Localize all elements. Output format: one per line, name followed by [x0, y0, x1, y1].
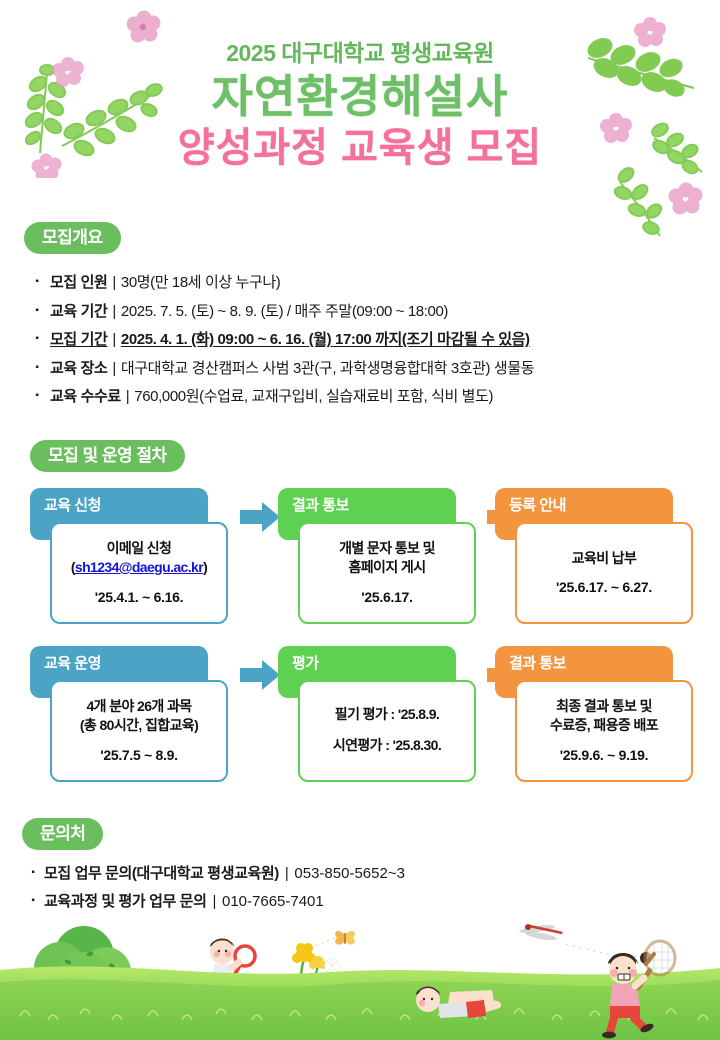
overview-label: 모집 기간	[50, 329, 107, 352]
separator: |	[121, 386, 135, 409]
step-line-2: 홈페이지 게시	[349, 558, 426, 577]
process-step-result-notice: 결과 통보 개별 문자 통보 및 홈페이지 게시 '25.6.17.	[278, 488, 476, 628]
bullet-icon: ▪	[24, 360, 50, 375]
overview-value: 대구대학교 경산캠퍼스 사범 3관(구, 과학생명융합대학 3호관) 생물동	[121, 358, 534, 381]
step-line-2: 수료증, 패용증 배포	[550, 716, 658, 735]
process-flow: 교육 신청 이메일 신청 (sh1234@daegu.ac.kr) '25.4.…	[0, 488, 720, 796]
overview-label: 교육 수수료	[50, 386, 121, 409]
contact-phone: 010-7665-7401	[222, 893, 324, 910]
step-date: '25.7.5 ~ 8.9.	[100, 747, 177, 763]
bullet-icon: ▪	[24, 388, 50, 403]
step-date: '25.6.17. ~ 6.27.	[556, 579, 652, 595]
arrow-right-icon	[240, 660, 280, 690]
arrow-right-icon	[240, 502, 280, 532]
overview-label: 교육 기간	[50, 301, 107, 324]
contact-label: 교육과정 및 평가 업무 문의	[44, 890, 206, 911]
contact-label: 모집 업무 문의(대구대학교 평생교육원)	[44, 862, 279, 883]
overview-value: 760,000원(수업료, 교재구입비, 실습재료비 포함, 식비 별도)	[134, 386, 493, 409]
process-step-final-result: 결과 통보 최종 결과 통보 및 수료증, 패용증 배포 '25.9.6. ~ …	[495, 646, 693, 786]
step-date: '25.6.17.	[361, 589, 412, 605]
step-line-1: 이메일 신청	[107, 539, 172, 558]
list-item: ▪ 모집 업무 문의(대구대학교 평생교육원) | 053-850-5652~3	[22, 862, 702, 883]
step-body: 이메일 신청 (sh1234@daegu.ac.kr) '25.4.1. ~ 6…	[50, 522, 228, 624]
step-date: '25.9.6. ~ 9.19.	[560, 747, 648, 763]
process-step-registration: 등록 안내 교육비 납부 '25.6.17. ~ 6.27.	[495, 488, 693, 628]
list-item: ▪ 모집 기간 | 2025. 4. 1. (화) 09:00 ~ 6. 16.…	[24, 329, 704, 352]
step-line-2: (총 80시간, 집합교육)	[80, 716, 198, 735]
step-line-1: 교육비 납부	[572, 549, 637, 568]
separator: |	[206, 893, 222, 910]
list-item: ▪ 교육 기간 | 2025. 7. 5. (토) ~ 8. 9. (토) / …	[24, 301, 704, 324]
dragonfly-icon	[519, 924, 563, 942]
email-link[interactable]: sh1234@daegu.ac.kr	[75, 559, 203, 575]
overview-label: 교육 장소	[50, 358, 107, 381]
page-title: 자연환경해설사	[0, 70, 720, 123]
overview-value: 30명(만 18세 이상 누구나)	[121, 272, 280, 295]
section-badge-contact: 문의처	[22, 818, 103, 850]
step-line-2: (sh1234@daegu.ac.kr)	[71, 558, 207, 577]
process-step-apply: 교육 신청 이메일 신청 (sh1234@daegu.ac.kr) '25.4.…	[30, 488, 228, 628]
step-line-1: 필기 평가 : '25.8.9.	[335, 705, 439, 724]
butterfly-icon	[335, 931, 355, 945]
section-badge-overview: 모집개요	[24, 222, 121, 254]
step-line-2: 시연평가 : '25.8.30.	[333, 736, 441, 755]
list-item: ▪ 교육 장소 | 대구대학교 경산캠퍼스 사범 3관(구, 과학생명융합대학 …	[24, 358, 704, 381]
step-body: 교육비 납부 '25.6.17. ~ 6.27.	[515, 522, 693, 624]
overview-value: 2025. 7. 5. (토) ~ 8. 9. (토) / 매주 주말(09:0…	[121, 301, 448, 324]
bullet-icon: ▪	[24, 303, 50, 318]
list-item: ▪ 교육 수수료 | 760,000원(수업료, 교재구입비, 실습재료비 포함…	[24, 386, 704, 409]
process-row-2: 교육 운영 4개 분야 26개 과목 (총 80시간, 집합교육) '25.7.…	[0, 646, 720, 796]
step-body: 개별 문자 통보 및 홈페이지 게시 '25.6.17.	[298, 522, 476, 624]
bullet-icon: ▪	[22, 867, 44, 878]
separator: |	[107, 272, 121, 295]
bullet-icon: ▪	[22, 895, 44, 906]
separator: |	[107, 329, 121, 352]
process-step-operation: 교육 운영 4개 분야 26개 과목 (총 80시간, 집합교육) '25.7.…	[30, 646, 228, 786]
step-body: 최종 결과 통보 및 수료증, 패용증 배포 '25.9.6. ~ 9.19.	[515, 680, 693, 782]
step-body: 필기 평가 : '25.8.9. 시연평가 : '25.8.30.	[298, 680, 476, 782]
contact-badge-label: 문의처	[22, 818, 103, 850]
separator: |	[279, 865, 295, 882]
separator: |	[107, 301, 121, 324]
process-row-1: 교육 신청 이메일 신청 (sh1234@daegu.ac.kr) '25.4.…	[0, 488, 720, 638]
bullet-icon: ▪	[24, 331, 50, 346]
poster-header: 2025 대구대학교 평생교육원 자연환경해설사 양성과정 교육생 모집	[0, 0, 720, 172]
section-badge-process: 모집 및 운영 절차	[30, 440, 185, 472]
step-date: '25.4.1. ~ 6.16.	[95, 589, 183, 605]
bottom-illustration	[0, 910, 720, 1040]
list-item: ▪ 교육과정 및 평가 업무 문의 | 010-7665-7401	[22, 890, 702, 911]
list-item: ▪ 모집 인원 | 30명(만 18세 이상 누구나)	[24, 272, 704, 295]
overview-badge-label: 모집개요	[24, 222, 121, 254]
step-line-1: 최종 결과 통보 및	[556, 697, 652, 716]
page-subtitle: 양성과정 교육생 모집	[0, 124, 720, 172]
step-body: 4개 분야 26개 과목 (총 80시간, 집합교육) '25.7.5 ~ 8.…	[50, 680, 228, 782]
overview-label: 모집 인원	[50, 272, 107, 295]
process-step-evaluation: 평가 필기 평가 : '25.8.9. 시연평가 : '25.8.30.	[278, 646, 476, 786]
paren-close: )	[203, 559, 207, 575]
separator: |	[107, 358, 121, 381]
contact-phone: 053-850-5652~3	[294, 865, 405, 882]
overview-value: 2025. 4. 1. (화) 09:00 ~ 6. 16. (월) 17:00…	[121, 329, 530, 352]
step-line-1: 개별 문자 통보 및	[339, 539, 435, 558]
overview-list: ▪ 모집 인원 | 30명(만 18세 이상 누구나) ▪ 교육 기간 | 20…	[24, 272, 704, 415]
bullet-icon: ▪	[24, 274, 50, 289]
step-line-1: 4개 분야 26개 과목	[86, 697, 191, 716]
process-badge-label: 모집 및 운영 절차	[30, 440, 185, 472]
poster-root: 2025 대구대학교 평생교육원 자연환경해설사 양성과정 교육생 모집 모집개…	[0, 0, 720, 1040]
header-kicker: 2025 대구대학교 평생교육원	[0, 40, 720, 68]
